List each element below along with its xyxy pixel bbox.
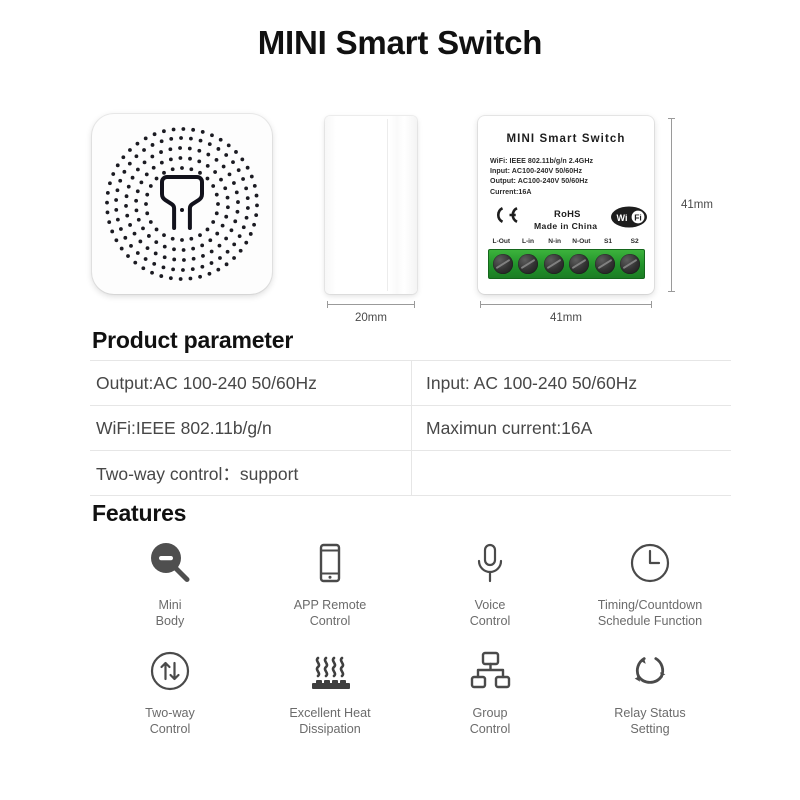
param-max-current: Maximun current:16A (412, 406, 732, 451)
terminal-block (488, 249, 645, 279)
table-row: Output:AC 100-240 50/60Hz Input: AC 100-… (90, 361, 731, 406)
terminal-label-s2: S2 (621, 238, 648, 245)
feature-heat-dissipation: Excellent Heat Dissipation (250, 646, 410, 737)
dimension-cap-left (327, 301, 328, 308)
dimension-cap-bottom (668, 291, 675, 292)
feature-timing-countdown: Timing/Countdown Schedule Function (570, 538, 730, 629)
page-title: MINI Smart Switch (0, 24, 800, 62)
feature-row: Mini Body APP Remote Control (90, 538, 730, 629)
dimension-label-41mm-height: 41mm (681, 199, 713, 211)
refresh-cycle-icon (627, 646, 673, 696)
microphone-icon (467, 538, 513, 588)
terminal-label-n-out: N-Out (568, 238, 595, 245)
feature-label: Excellent Heat Dissipation (289, 705, 370, 737)
screw-terminal (620, 254, 640, 274)
feature-label: Group Control (470, 705, 511, 737)
feature-row: Two-way Control Excellent Heat Dissipati… (90, 646, 730, 737)
dimension-line-horizontal (325, 301, 417, 308)
table-row: Two-way control：support (90, 451, 731, 496)
heat-waves-icon (305, 646, 355, 696)
ce-mark-icon (490, 205, 520, 225)
dimension-width-module: 41mm (478, 301, 654, 324)
param-output: Output:AC 100-240 50/60Hz (90, 361, 412, 406)
svg-text:Wi: Wi (617, 213, 628, 223)
product-module-label-view: MINI Smart Switch WiFi: IEEE 802.11b/g/n… (478, 116, 654, 294)
two-way-arrows-circle-icon (147, 646, 193, 696)
dimension-line-vertical (668, 116, 675, 294)
module-spec-wifi: WiFi: IEEE 802.11b/g/n 2.4GHz (490, 156, 593, 166)
terminal-label-row: L-Out L-in N-in N-Out S1 S2 (488, 238, 648, 245)
product-image-band: MINI Smart Switch WiFi: IEEE 802.11b/g/n… (0, 108, 800, 333)
product-side-view (325, 116, 417, 294)
param-wifi: WiFi:IEEE 802.11b/g/n (90, 406, 412, 451)
dimension-cap-left (480, 301, 481, 308)
module-spec-current: Current:16A (490, 187, 593, 197)
dimension-label-41mm-width: 41mm (478, 312, 654, 324)
clock-icon (627, 538, 673, 588)
table-row: WiFi:IEEE 802.11b/g/n Maximun current:16… (90, 406, 731, 451)
feature-voice-control: Voice Control (410, 538, 570, 629)
screw-terminal (544, 254, 564, 274)
screw-terminal (493, 254, 513, 274)
feature-group-control: Group Control (410, 646, 570, 737)
feature-label: Two-way Control (145, 705, 195, 737)
terminal-label-l-out: L-Out (488, 238, 515, 245)
module-spec-input: Input: AC100-240V 50/60Hz (490, 166, 593, 176)
feature-app-remote-control: APP Remote Control (250, 538, 410, 629)
feature-label: Mini Body (156, 597, 185, 629)
feature-label: Voice Control (470, 597, 511, 629)
product-parameter-table: Output:AC 100-240 50/60Hz Input: AC 100-… (90, 360, 731, 496)
feature-label: Timing/Countdown Schedule Function (598, 597, 703, 629)
feature-label: Relay Status Setting (614, 705, 685, 737)
dimension-cap-right (651, 301, 652, 308)
screw-terminal (569, 254, 589, 274)
module-certification-badges: RoHS Made in China Wi Fi (478, 204, 654, 238)
module-title: MINI Smart Switch (478, 133, 654, 145)
plug-outline-glyph (155, 171, 209, 237)
rohs-label: RoHS (554, 208, 581, 219)
made-in-china-label: Made in China (534, 221, 597, 231)
feature-mini-body: Mini Body (90, 538, 250, 629)
dimension-width-side-view: 20mm (325, 301, 417, 324)
side-view-seam (387, 119, 388, 291)
magnifier-minus-icon (147, 538, 193, 588)
features-grid: Mini Body APP Remote Control (90, 538, 730, 737)
feature-two-way-control: Two-way Control (90, 646, 250, 737)
wifi-badge-icon: Wi Fi (610, 204, 648, 230)
feature-relay-status-setting: Relay Status Setting (570, 646, 730, 737)
hierarchy-group-icon (467, 646, 513, 696)
dimension-height-module: 41mm (668, 116, 713, 294)
feature-label: APP Remote Control (294, 597, 367, 629)
dimension-label-20mm: 20mm (325, 312, 417, 324)
screw-terminal (518, 254, 538, 274)
svg-text:Fi: Fi (634, 212, 642, 222)
dimension-line-horizontal (478, 301, 654, 308)
product-parameter-heading: Product parameter (92, 327, 293, 354)
module-spec-output: Output: AC100-240V 50/60Hz (490, 176, 593, 186)
product-front-faceplate (92, 114, 272, 294)
terminal-label-n-in: N-in (541, 238, 568, 245)
param-two-way: Two-way control：support (90, 451, 412, 496)
smartphone-icon (307, 538, 353, 588)
module-spec-list: WiFi: IEEE 802.11b/g/n 2.4GHz Input: AC1… (490, 156, 593, 197)
screw-terminal (595, 254, 615, 274)
terminal-label-l-in: L-in (515, 238, 542, 245)
param-input: Input: AC 100-240 50/60Hz (412, 361, 732, 406)
features-heading: Features (92, 500, 186, 527)
param-empty (412, 451, 732, 496)
dimension-cap-top (668, 118, 675, 119)
terminal-label-s1: S1 (595, 238, 622, 245)
dimension-cap-right (414, 301, 415, 308)
